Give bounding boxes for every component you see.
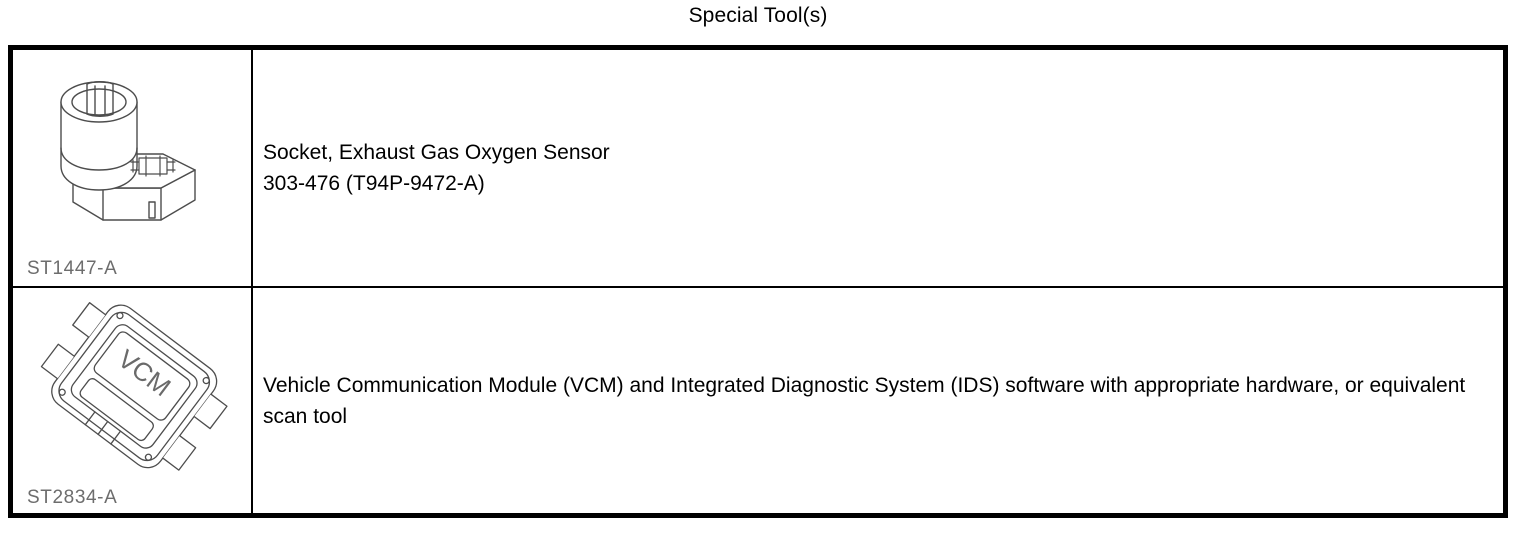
socket-exhaust-gas-oxygen-sensor-illustration: [43, 62, 233, 242]
vehicle-communication-module-illustration: VCM: [19, 288, 249, 483]
tool-description: Socket, Exhaust Gas Oxygen Sensor 303-47…: [263, 137, 610, 199]
tool-description: Vehicle Communication Module (VCM) and I…: [263, 370, 1503, 432]
special-tools-table: ST1447-A Socket, Exhaust Gas Oxygen Sens…: [8, 45, 1508, 518]
special-tools-page: Special Tool(s): [0, 0, 1526, 534]
tool-description-cell: Socket, Exhaust Gas Oxygen Sensor 303-47…: [253, 50, 1503, 286]
tool-illustration-cell: VCM ST2834-A: [13, 288, 253, 513]
table-row: ST1447-A Socket, Exhaust Gas Oxygen Sens…: [13, 50, 1503, 288]
table-row: VCM ST2834-A Vehicle Communication Modul…: [13, 288, 1503, 513]
illustration-label: ST1447-A: [27, 258, 117, 280]
illustration-label: ST2834-A: [27, 487, 117, 509]
tool-illustration-cell: ST1447-A: [13, 50, 253, 286]
page-title: Special Tool(s): [0, 3, 1516, 29]
tool-description-cell: Vehicle Communication Module (VCM) and I…: [253, 288, 1503, 513]
